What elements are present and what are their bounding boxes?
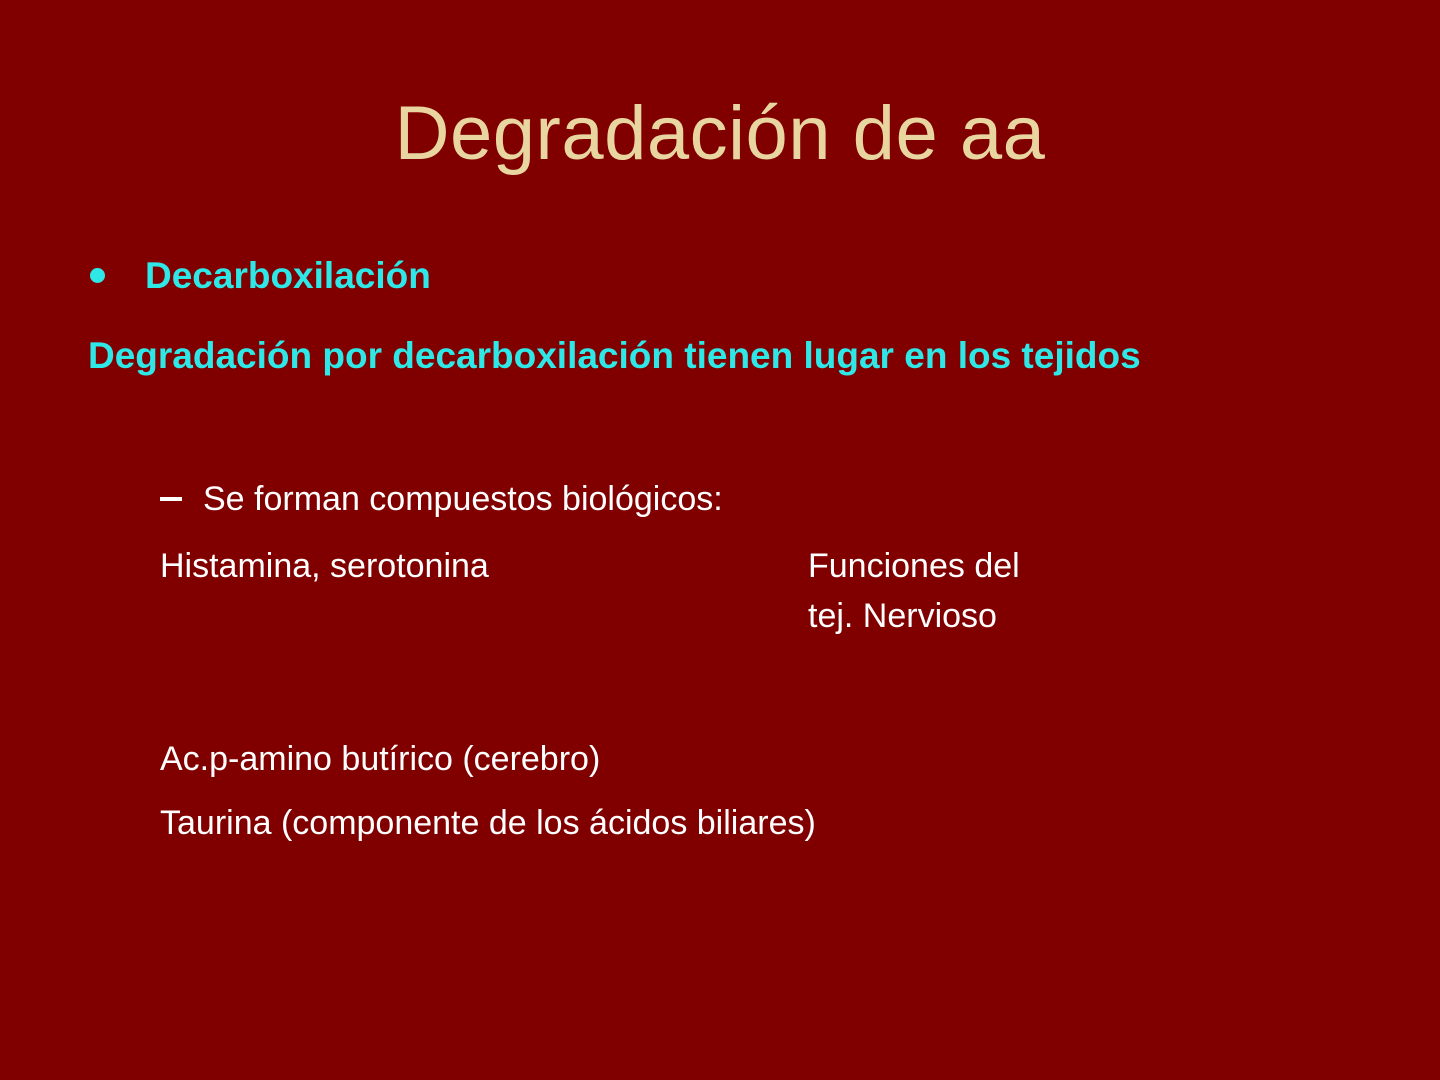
sub-bullet-label: Se forman compuestos biológicos: <box>203 480 723 518</box>
two-column-row: Histamina, serotonina Funciones del tej.… <box>0 541 1440 651</box>
column-right-line-2: tej. Nervioso <box>808 591 1020 641</box>
plain-line-gaba: Ac.p-amino butírico (cerebro) <box>0 737 1440 781</box>
presentation-slide: Degradación de aa Decarboxilación Degrad… <box>0 0 1440 1080</box>
bullet-dot-icon <box>90 268 105 283</box>
column-right-line-1: Funciones del <box>808 541 1020 591</box>
slide-body: Decarboxilación Degradación por decarbox… <box>0 252 1440 845</box>
paragraph-degradacion: Degradación por decarboxilación tienen l… <box>0 326 1390 385</box>
column-right-functions: Funciones del tej. Nervioso <box>808 541 1020 641</box>
slide-title: Degradación de aa <box>0 88 1440 180</box>
dash-bullet-icon <box>160 497 182 501</box>
bullet-item-decarboxilacion: Decarboxilación <box>0 252 1440 300</box>
column-left-compounds: Histamina, serotonina <box>160 541 489 591</box>
bullet-item-label: Decarboxilación <box>145 255 431 296</box>
plain-line-taurina: Taurina (componente de los ácidos biliar… <box>0 801 1440 845</box>
sub-bullet-compuestos: Se forman compuestos biológicos: <box>0 477 1440 521</box>
